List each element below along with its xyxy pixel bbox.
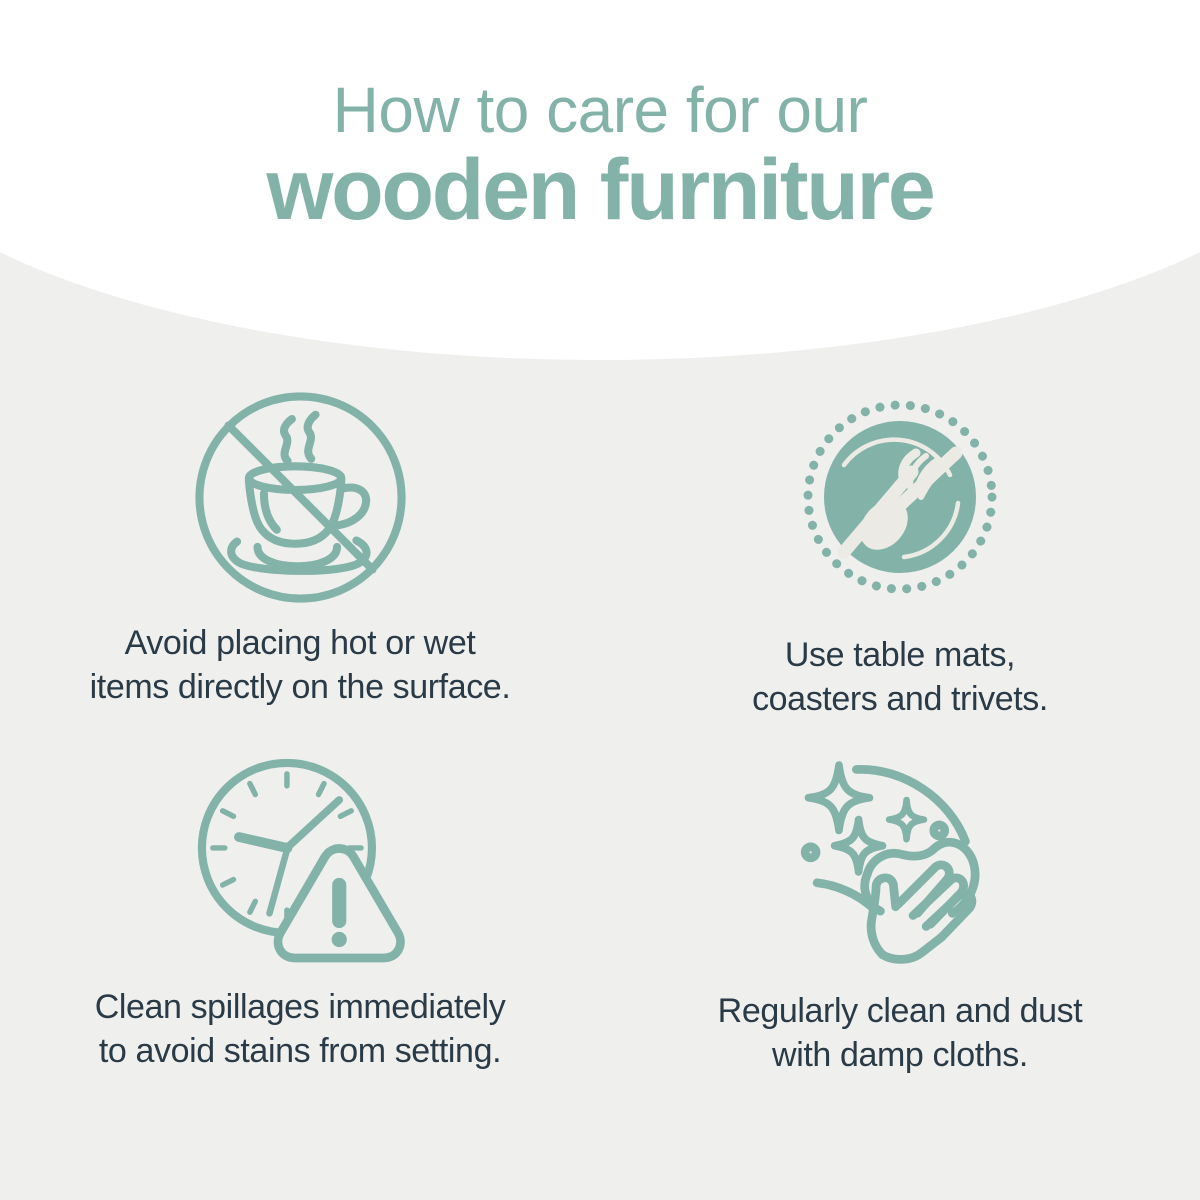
infographic-canvas: How to care for our wooden furniture (0, 0, 1200, 1200)
page-title-line-1: How to care for our (0, 0, 1200, 143)
tip-card-1: Avoid placing hot or wet items directly … (0, 380, 600, 740)
tip-caption-1: Avoid placing hot or wet items directly … (90, 622, 511, 709)
page-title-line-2: wooden furniture (0, 143, 1200, 235)
tip-caption-4: Regularly clean and dust with damp cloth… (718, 990, 1083, 1077)
tip-card-4: Regularly clean and dust with damp cloth… (600, 740, 1200, 1100)
hand-cloth-sparkle-icon (785, 746, 1015, 976)
plate-fork-spoon-icon (785, 382, 1015, 612)
tip-caption-3: Clean spillages immediately to avoid sta… (95, 986, 506, 1073)
tip-card-3: Clean spillages immediately to avoid sta… (0, 740, 600, 1100)
tip-caption-2: Use table mats, coasters and trivets. (752, 634, 1048, 721)
tip-card-2: Use table mats, coasters and trivets. (600, 380, 1200, 740)
header: How to care for our wooden furniture (0, 0, 1200, 235)
no-hot-drink-icon (185, 382, 415, 612)
clock-warning-icon (185, 746, 415, 976)
tips-grid: Avoid placing hot or wet items directly … (0, 380, 1200, 1100)
